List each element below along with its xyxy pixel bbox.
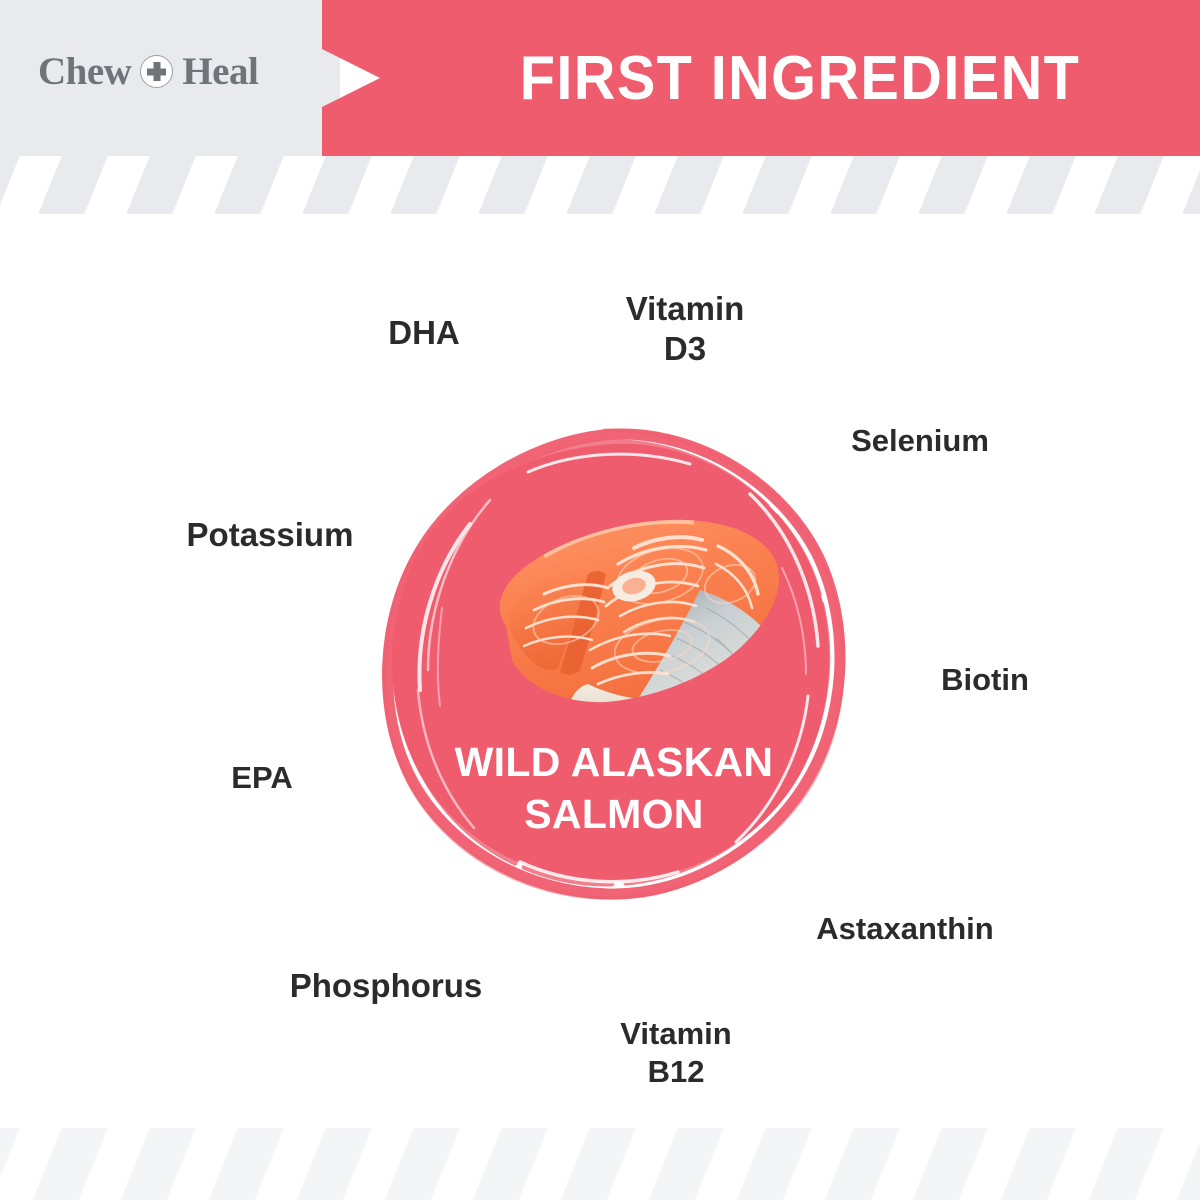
stripe	[997, 1128, 1082, 1200]
nutrient-bubble-astaxanthin[interactable]: Astaxanthin	[794, 818, 1016, 1040]
stripe	[293, 156, 378, 214]
stripe	[29, 1128, 114, 1200]
stripe	[0, 1128, 25, 1200]
bubble-label-biotin: Biotin	[897, 661, 1073, 699]
nutrient-bubble-epa[interactable]: EPA	[184, 700, 340, 856]
nutrient-bubble-vitamin-d3[interactable]: Vitamin D3	[578, 222, 792, 436]
logo-text-chew: Chew	[38, 52, 131, 91]
stripe	[117, 156, 202, 214]
bubble-label-potassium: Potassium	[162, 515, 378, 555]
bubble-label-phosphorus: Phosphorus	[272, 966, 500, 1006]
infographic-page: Chew Heal FIRST INGREDIENT	[0, 0, 1200, 1200]
nutrient-bubble-phosphorus[interactable]: Phosphorus	[272, 872, 500, 1100]
nutrient-bubble-potassium[interactable]: Potassium	[162, 427, 378, 643]
stripe	[1085, 1128, 1170, 1200]
stripe	[909, 1128, 994, 1200]
page-header: Chew Heal FIRST INGREDIENT	[0, 0, 1200, 156]
stripe	[909, 156, 994, 214]
center-ingredient-label: WILD ALASKAN SALMON	[398, 736, 830, 840]
brand-logo: Chew Heal	[38, 52, 258, 91]
stripe	[1085, 156, 1170, 214]
salmon-steak-image	[448, 498, 796, 728]
stripe	[381, 1128, 466, 1200]
stripe	[0, 156, 25, 214]
bubble-label-vitamin-b12: Vitamin B12	[578, 1015, 774, 1091]
stripe	[117, 1128, 202, 1200]
nutrient-bubble-biotin[interactable]: Biotin	[897, 592, 1073, 768]
nutrient-bubble-vitamin-b12[interactable]: Vitamin B12	[578, 955, 774, 1151]
stripe	[469, 156, 554, 214]
stripe	[821, 156, 906, 214]
bubble-label-dha: DHA	[347, 313, 501, 353]
stripe	[1173, 156, 1200, 214]
logo-text-heal: Heal	[182, 52, 258, 91]
nutrient-bubble-dha[interactable]: DHA	[347, 256, 501, 410]
stripe	[381, 156, 466, 214]
stripe	[205, 156, 290, 214]
stripe	[821, 1128, 906, 1200]
bubble-label-astaxanthin: Astaxanthin	[794, 910, 1016, 948]
page-title: FIRST INGREDIENT	[428, 0, 1172, 156]
stripe	[557, 156, 642, 214]
stripe	[469, 1128, 554, 1200]
bubble-label-vitamin-d3: Vitamin D3	[578, 289, 792, 370]
stripe-band-top	[0, 156, 1200, 214]
bubble-label-epa: EPA	[184, 759, 340, 797]
nutrient-bubble-selenium[interactable]: Selenium	[824, 345, 1016, 537]
stripe	[733, 156, 818, 214]
stripe	[997, 156, 1082, 214]
plus-badge-icon	[140, 55, 173, 88]
stripe	[645, 156, 730, 214]
stripe	[293, 1128, 378, 1200]
stripe	[1173, 1128, 1200, 1200]
stripe	[29, 156, 114, 214]
stripe	[205, 1128, 290, 1200]
bubble-label-selenium: Selenium	[824, 422, 1016, 460]
